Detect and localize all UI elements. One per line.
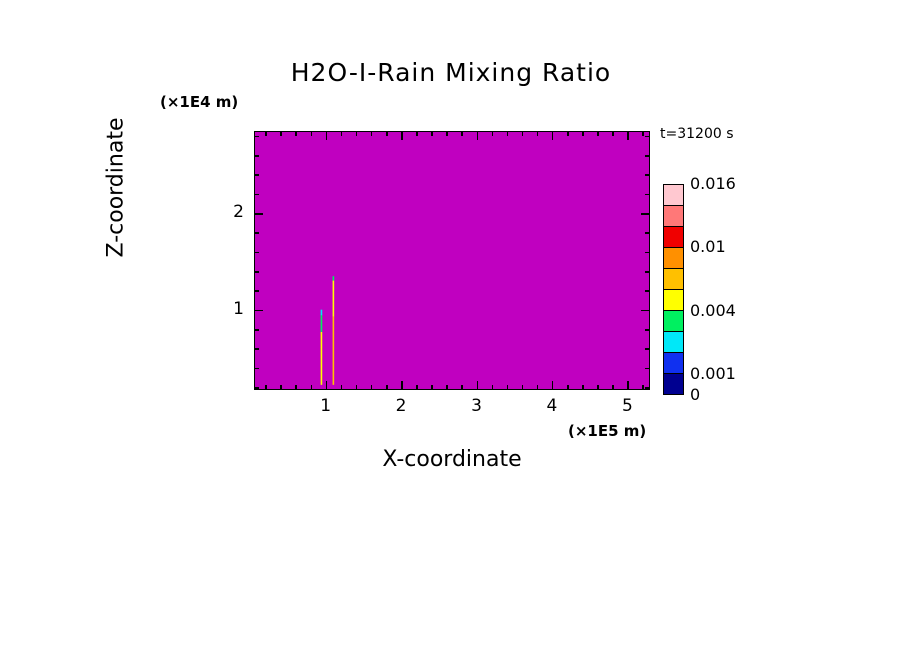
y-tick-left (254, 252, 259, 254)
x-tick-bottom (265, 385, 267, 390)
x-tick-bottom (642, 385, 644, 390)
colorbar (663, 184, 684, 395)
x-tick-label-3: 3 (457, 396, 497, 416)
x-tick-bottom (341, 385, 343, 390)
y-tick-left (254, 155, 259, 157)
x-tick-bottom (401, 381, 403, 390)
colorbar-band-6 (664, 311, 683, 332)
y-tick-right (645, 194, 650, 196)
y-tick-label-1: 1 (218, 299, 244, 319)
x-tick-top (386, 131, 388, 136)
y-axis-unit-label: (×1E4 m) (160, 93, 238, 111)
y-tick-left (254, 310, 263, 312)
x-tick-bottom (311, 385, 313, 390)
y-tick-right (645, 271, 650, 273)
x-tick-bottom (431, 385, 433, 390)
y-tick-left (254, 174, 259, 176)
x-axis-title: X-coordinate (254, 447, 650, 472)
y-tick-label-2: 2 (218, 202, 244, 222)
colorbar-band-3 (664, 248, 683, 269)
x-tick-bottom (371, 385, 373, 390)
colorbar-band-7 (664, 332, 683, 353)
x-tick-bottom (582, 385, 584, 390)
colorbar-label-0: 0 (690, 385, 700, 404)
x-tick-label-5: 5 (607, 396, 647, 416)
x-tick-top (341, 131, 343, 136)
y-tick-left (254, 387, 259, 389)
rain-mixing-ratio-field (255, 132, 649, 389)
x-tick-bottom (416, 385, 418, 390)
x-tick-bottom (461, 385, 463, 390)
x-tick-top (492, 131, 494, 136)
x-tick-label-2: 2 (381, 396, 421, 416)
x-tick-top (627, 131, 629, 140)
y-tick-left (254, 271, 259, 273)
x-tick-bottom (295, 385, 297, 390)
y-tick-right (645, 290, 650, 292)
x-tick-bottom (326, 381, 328, 390)
x-tick-top (356, 131, 358, 136)
y-tick-right (645, 329, 650, 331)
x-tick-bottom (477, 381, 479, 390)
colorbar-band-0 (664, 185, 683, 206)
x-tick-top (265, 131, 267, 136)
y-tick-right (645, 368, 650, 370)
y-tick-right (645, 252, 650, 254)
x-tick-top (401, 131, 403, 140)
y-axis-title: Z-coordinate (104, 63, 129, 313)
x-tick-bottom (522, 385, 524, 390)
x-tick-bottom (597, 385, 599, 390)
y-tick-left (254, 232, 259, 234)
x-tick-bottom (386, 385, 388, 390)
y-tick-left (254, 290, 259, 292)
x-tick-top (311, 131, 313, 136)
y-tick-left (254, 348, 259, 350)
x-tick-top (582, 131, 584, 136)
x-tick-top (567, 131, 569, 136)
x-tick-top (552, 131, 554, 140)
x-tick-top (446, 131, 448, 136)
x-tick-top (642, 131, 644, 136)
x-tick-top (612, 131, 614, 136)
contour-plot-area (254, 131, 650, 390)
y-tick-left (254, 368, 259, 370)
x-tick-top (477, 131, 479, 140)
x-tick-bottom (612, 385, 614, 390)
colorbar-label-0-001: 0.001 (690, 364, 736, 383)
chart-title: H2O-I-Rain Mixing Ratio (0, 58, 904, 87)
x-tick-label-1: 1 (306, 396, 346, 416)
x-tick-top (371, 131, 373, 136)
y-tick-right (641, 310, 650, 312)
colorbar-band-9 (664, 374, 683, 394)
y-tick-right (645, 232, 650, 234)
figure-canvas: H2O-I-Rain Mixing Ratio (×1E4 m) t=31200… (0, 0, 904, 654)
x-tick-bottom (356, 385, 358, 390)
x-tick-top (280, 131, 282, 136)
x-tick-top (326, 131, 328, 140)
y-tick-right (645, 136, 650, 138)
y-tick-right (645, 348, 650, 350)
x-tick-bottom (446, 385, 448, 390)
x-tick-top (416, 131, 418, 136)
x-tick-bottom (280, 385, 282, 390)
y-tick-left (254, 136, 259, 138)
x-tick-top (537, 131, 539, 136)
x-tick-bottom (567, 385, 569, 390)
colorbar-band-8 (664, 353, 683, 374)
x-tick-bottom (537, 385, 539, 390)
y-tick-left (254, 194, 259, 196)
x-tick-bottom (492, 385, 494, 390)
colorbar-label-0-004: 0.004 (690, 301, 736, 320)
x-tick-bottom (552, 381, 554, 390)
x-tick-top (507, 131, 509, 136)
x-tick-top (522, 131, 524, 136)
colorbar-band-4 (664, 269, 683, 290)
colorbar-label-0-016: 0.016 (690, 174, 736, 193)
chart-title-text: H2O-I-Rain Mixing Ratio (291, 58, 611, 87)
timestamp-annotation: t=31200 s (660, 126, 734, 142)
colorbar-label-0-01: 0.01 (690, 237, 726, 256)
y-tick-left (254, 329, 259, 331)
y-tick-right (645, 174, 650, 176)
y-tick-right (641, 213, 650, 215)
x-tick-bottom (627, 381, 629, 390)
x-tick-top (295, 131, 297, 136)
x-axis-unit-label: (×1E5 m) (568, 422, 646, 440)
colorbar-band-1 (664, 206, 683, 227)
y-tick-left (254, 213, 263, 215)
x-tick-top (597, 131, 599, 136)
x-tick-top (431, 131, 433, 136)
x-tick-bottom (507, 385, 509, 390)
y-tick-right (645, 387, 650, 389)
colorbar-band-2 (664, 227, 683, 248)
x-tick-label-4: 4 (532, 396, 572, 416)
colorbar-band-5 (664, 290, 683, 311)
y-tick-right (645, 155, 650, 157)
x-tick-top (461, 131, 463, 136)
